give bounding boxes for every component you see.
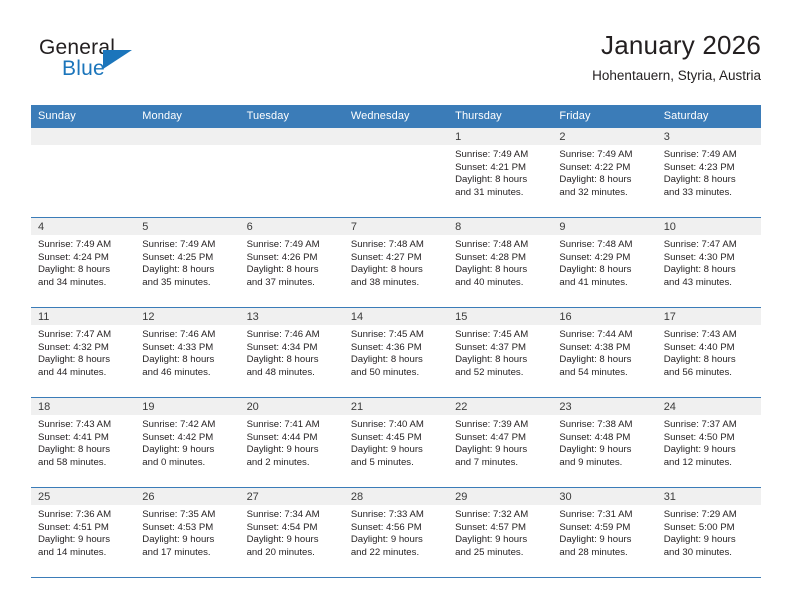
sunrise-time: Sunrise: 7:48 AM xyxy=(455,239,546,252)
daylight-line-2: and 32 minutes. xyxy=(559,187,650,200)
sunrise-time: Sunrise: 7:49 AM xyxy=(455,149,546,162)
weekday-header-sunday: Sunday xyxy=(31,105,135,128)
calendar-day-cell-empty xyxy=(344,128,448,218)
sunrise-time: Sunrise: 7:40 AM xyxy=(351,419,442,432)
daylight-line-1: Daylight: 8 hours xyxy=(664,264,755,277)
daylight-line-2: and 43 minutes. xyxy=(664,277,755,290)
daylight-line-1: Daylight: 9 hours xyxy=(559,444,650,457)
calendar-day-cell[interactable]: 28Sunrise: 7:33 AMSunset: 4:56 PMDayligh… xyxy=(344,488,448,578)
daylight-line-2: and 28 minutes. xyxy=(559,547,650,560)
day-details: Sunrise: 7:46 AMSunset: 4:33 PMDaylight:… xyxy=(135,325,239,379)
daylight-line-2: and 12 minutes. xyxy=(664,457,755,470)
calendar-day-cell[interactable]: 29Sunrise: 7:32 AMSunset: 4:57 PMDayligh… xyxy=(448,488,552,578)
day-number: 18 xyxy=(31,398,135,415)
daylight-line-1: Daylight: 9 hours xyxy=(247,534,338,547)
day-number xyxy=(344,128,448,145)
daylight-line-1: Daylight: 8 hours xyxy=(142,264,233,277)
sunset-time: Sunset: 5:00 PM xyxy=(664,522,755,535)
sunrise-time: Sunrise: 7:45 AM xyxy=(455,329,546,342)
calendar-day-cell[interactable]: 19Sunrise: 7:42 AMSunset: 4:42 PMDayligh… xyxy=(135,398,239,488)
daylight-line-1: Daylight: 9 hours xyxy=(247,444,338,457)
daylight-line-1: Daylight: 8 hours xyxy=(664,174,755,187)
sunrise-time: Sunrise: 7:48 AM xyxy=(559,239,650,252)
sunset-time: Sunset: 4:24 PM xyxy=(38,252,129,265)
sunrise-time: Sunrise: 7:43 AM xyxy=(664,329,755,342)
calendar-day-cell[interactable]: 15Sunrise: 7:45 AMSunset: 4:37 PMDayligh… xyxy=(448,308,552,398)
daylight-line-2: and 52 minutes. xyxy=(455,367,546,380)
daylight-line-2: and 0 minutes. xyxy=(142,457,233,470)
day-details: Sunrise: 7:49 AMSunset: 4:23 PMDaylight:… xyxy=(657,145,761,199)
day-details: Sunrise: 7:49 AMSunset: 4:25 PMDaylight:… xyxy=(135,235,239,289)
sunset-time: Sunset: 4:56 PM xyxy=(351,522,442,535)
sunrise-time: Sunrise: 7:48 AM xyxy=(351,239,442,252)
day-number: 10 xyxy=(657,218,761,235)
day-number: 11 xyxy=(31,308,135,325)
day-number: 23 xyxy=(552,398,656,415)
day-details xyxy=(31,145,135,149)
day-details: Sunrise: 7:46 AMSunset: 4:34 PMDaylight:… xyxy=(240,325,344,379)
day-details xyxy=(135,145,239,149)
calendar-day-cell[interactable]: 6Sunrise: 7:49 AMSunset: 4:26 PMDaylight… xyxy=(240,218,344,308)
daylight-line-2: and 44 minutes. xyxy=(38,367,129,380)
sunset-time: Sunset: 4:30 PM xyxy=(664,252,755,265)
sunrise-time: Sunrise: 7:33 AM xyxy=(351,509,442,522)
day-details: Sunrise: 7:40 AMSunset: 4:45 PMDaylight:… xyxy=(344,415,448,469)
day-details xyxy=(344,145,448,149)
day-number xyxy=(31,128,135,145)
day-details: Sunrise: 7:33 AMSunset: 4:56 PMDaylight:… xyxy=(344,505,448,559)
daylight-line-2: and 25 minutes. xyxy=(455,547,546,560)
daylight-line-2: and 30 minutes. xyxy=(664,547,755,560)
daylight-line-2: and 37 minutes. xyxy=(247,277,338,290)
sunset-time: Sunset: 4:33 PM xyxy=(142,342,233,355)
day-number: 6 xyxy=(240,218,344,235)
sunset-time: Sunset: 4:37 PM xyxy=(455,342,546,355)
daylight-line-1: Daylight: 8 hours xyxy=(247,264,338,277)
calendar-page: General Blue January 2026 Hohentauern, S… xyxy=(0,0,792,612)
calendar-day-cell[interactable]: 20Sunrise: 7:41 AMSunset: 4:44 PMDayligh… xyxy=(240,398,344,488)
sunset-time: Sunset: 4:45 PM xyxy=(351,432,442,445)
calendar-day-cell-empty xyxy=(240,128,344,218)
day-number: 7 xyxy=(344,218,448,235)
daylight-line-1: Daylight: 9 hours xyxy=(559,534,650,547)
daylight-line-2: and 35 minutes. xyxy=(142,277,233,290)
sunset-time: Sunset: 4:51 PM xyxy=(38,522,129,535)
day-number: 31 xyxy=(657,488,761,505)
calendar-day-cell[interactable]: 10Sunrise: 7:47 AMSunset: 4:30 PMDayligh… xyxy=(657,218,761,308)
sunrise-time: Sunrise: 7:46 AM xyxy=(247,329,338,342)
sunrise-time: Sunrise: 7:34 AM xyxy=(247,509,338,522)
triangle-logo-icon xyxy=(103,50,132,69)
day-number: 1 xyxy=(448,128,552,145)
sunset-time: Sunset: 4:22 PM xyxy=(559,162,650,175)
day-number: 8 xyxy=(448,218,552,235)
day-number: 22 xyxy=(448,398,552,415)
daylight-line-1: Daylight: 8 hours xyxy=(559,264,650,277)
daylight-line-1: Daylight: 8 hours xyxy=(455,174,546,187)
sunset-time: Sunset: 4:38 PM xyxy=(559,342,650,355)
calendar-day-cell[interactable]: 8Sunrise: 7:48 AMSunset: 4:28 PMDaylight… xyxy=(448,218,552,308)
calendar-day-cell[interactable]: 22Sunrise: 7:39 AMSunset: 4:47 PMDayligh… xyxy=(448,398,552,488)
calendar-day-cell[interactable]: 2Sunrise: 7:49 AMSunset: 4:22 PMDaylight… xyxy=(552,128,656,218)
sunrise-time: Sunrise: 7:47 AM xyxy=(664,239,755,252)
weekday-header-row: Sunday Monday Tuesday Wednesday Thursday… xyxy=(31,105,761,128)
day-details: Sunrise: 7:34 AMSunset: 4:54 PMDaylight:… xyxy=(240,505,344,559)
daylight-line-2: and 31 minutes. xyxy=(455,187,546,200)
calendar-day-cell[interactable]: 9Sunrise: 7:48 AMSunset: 4:29 PMDaylight… xyxy=(552,218,656,308)
sunset-time: Sunset: 4:50 PM xyxy=(664,432,755,445)
calendar-day-cell[interactable]: 13Sunrise: 7:46 AMSunset: 4:34 PMDayligh… xyxy=(240,308,344,398)
daylight-line-2: and 5 minutes. xyxy=(351,457,442,470)
sunrise-time: Sunrise: 7:49 AM xyxy=(247,239,338,252)
weekday-header-saturday: Saturday xyxy=(657,105,761,128)
calendar-day-cell[interactable]: 26Sunrise: 7:35 AMSunset: 4:53 PMDayligh… xyxy=(135,488,239,578)
calendar-body: 1Sunrise: 7:49 AMSunset: 4:21 PMDaylight… xyxy=(31,128,761,578)
weekday-header-monday: Monday xyxy=(135,105,239,128)
calendar-day-cell[interactable]: 17Sunrise: 7:43 AMSunset: 4:40 PMDayligh… xyxy=(657,308,761,398)
sunset-time: Sunset: 4:41 PM xyxy=(38,432,129,445)
day-number: 25 xyxy=(31,488,135,505)
daylight-line-2: and 58 minutes. xyxy=(38,457,129,470)
sunset-time: Sunset: 4:29 PM xyxy=(559,252,650,265)
calendar-day-cell-empty xyxy=(31,128,135,218)
daylight-line-1: Daylight: 8 hours xyxy=(559,354,650,367)
daylight-line-1: Daylight: 8 hours xyxy=(38,444,129,457)
day-number: 15 xyxy=(448,308,552,325)
sunrise-time: Sunrise: 7:39 AM xyxy=(455,419,546,432)
sunset-time: Sunset: 4:44 PM xyxy=(247,432,338,445)
sunrise-time: Sunrise: 7:38 AM xyxy=(559,419,650,432)
sunrise-time: Sunrise: 7:32 AM xyxy=(455,509,546,522)
day-number: 13 xyxy=(240,308,344,325)
day-number: 14 xyxy=(344,308,448,325)
calendar-day-cell[interactable]: 18Sunrise: 7:43 AMSunset: 4:41 PMDayligh… xyxy=(31,398,135,488)
day-details: Sunrise: 7:39 AMSunset: 4:47 PMDaylight:… xyxy=(448,415,552,469)
page-title: January 2026 xyxy=(592,28,761,62)
sunrise-time: Sunrise: 7:46 AM xyxy=(142,329,233,342)
daylight-line-2: and 50 minutes. xyxy=(351,367,442,380)
daylight-line-2: and 34 minutes. xyxy=(38,277,129,290)
day-number: 9 xyxy=(552,218,656,235)
daylight-line-1: Daylight: 8 hours xyxy=(559,174,650,187)
daylight-line-2: and 56 minutes. xyxy=(664,367,755,380)
daylight-line-1: Daylight: 8 hours xyxy=(455,354,546,367)
sunset-time: Sunset: 4:28 PM xyxy=(455,252,546,265)
sunrise-time: Sunrise: 7:31 AM xyxy=(559,509,650,522)
daylight-line-1: Daylight: 8 hours xyxy=(142,354,233,367)
sunset-time: Sunset: 4:47 PM xyxy=(455,432,546,445)
daylight-line-1: Daylight: 9 hours xyxy=(455,444,546,457)
page-header: General Blue January 2026 Hohentauern, S… xyxy=(31,28,761,100)
day-number: 12 xyxy=(135,308,239,325)
sunset-time: Sunset: 4:21 PM xyxy=(455,162,546,175)
calendar-week-row: 1Sunrise: 7:49 AMSunset: 4:21 PMDaylight… xyxy=(31,128,761,218)
sunset-time: Sunset: 4:59 PM xyxy=(559,522,650,535)
sunset-time: Sunset: 4:26 PM xyxy=(247,252,338,265)
day-details: Sunrise: 7:47 AMSunset: 4:30 PMDaylight:… xyxy=(657,235,761,289)
sunset-time: Sunset: 4:27 PM xyxy=(351,252,442,265)
sunset-time: Sunset: 4:57 PM xyxy=(455,522,546,535)
sunrise-time: Sunrise: 7:36 AM xyxy=(38,509,129,522)
calendar-grid: Sunday Monday Tuesday Wednesday Thursday… xyxy=(31,105,761,578)
brand-name-blue: Blue xyxy=(62,57,105,81)
daylight-line-1: Daylight: 9 hours xyxy=(38,534,129,547)
day-details: Sunrise: 7:49 AMSunset: 4:24 PMDaylight:… xyxy=(31,235,135,289)
calendar-day-cell[interactable]: 16Sunrise: 7:44 AMSunset: 4:38 PMDayligh… xyxy=(552,308,656,398)
weekday-header-wednesday: Wednesday xyxy=(344,105,448,128)
daylight-line-1: Daylight: 8 hours xyxy=(38,264,129,277)
day-number xyxy=(135,128,239,145)
daylight-line-2: and 41 minutes. xyxy=(559,277,650,290)
daylight-line-2: and 38 minutes. xyxy=(351,277,442,290)
calendar-day-cell[interactable]: 27Sunrise: 7:34 AMSunset: 4:54 PMDayligh… xyxy=(240,488,344,578)
daylight-line-2: and 48 minutes. xyxy=(247,367,338,380)
day-number: 26 xyxy=(135,488,239,505)
day-number: 19 xyxy=(135,398,239,415)
sunset-time: Sunset: 4:23 PM xyxy=(664,162,755,175)
weekday-header-thursday: Thursday xyxy=(448,105,552,128)
calendar-week-row: 18Sunrise: 7:43 AMSunset: 4:41 PMDayligh… xyxy=(31,398,761,488)
daylight-line-1: Daylight: 8 hours xyxy=(351,354,442,367)
daylight-line-2: and 2 minutes. xyxy=(247,457,338,470)
day-details: Sunrise: 7:49 AMSunset: 4:22 PMDaylight:… xyxy=(552,145,656,199)
calendar-day-cell[interactable]: 7Sunrise: 7:48 AMSunset: 4:27 PMDaylight… xyxy=(344,218,448,308)
daylight-line-1: Daylight: 9 hours xyxy=(142,444,233,457)
sunrise-time: Sunrise: 7:47 AM xyxy=(38,329,129,342)
day-details: Sunrise: 7:48 AMSunset: 4:27 PMDaylight:… xyxy=(344,235,448,289)
daylight-line-1: Daylight: 8 hours xyxy=(351,264,442,277)
day-details: Sunrise: 7:36 AMSunset: 4:51 PMDaylight:… xyxy=(31,505,135,559)
daylight-line-1: Daylight: 8 hours xyxy=(38,354,129,367)
daylight-line-2: and 17 minutes. xyxy=(142,547,233,560)
daylight-line-2: and 22 minutes. xyxy=(351,547,442,560)
daylight-line-2: and 7 minutes. xyxy=(455,457,546,470)
day-details: Sunrise: 7:32 AMSunset: 4:57 PMDaylight:… xyxy=(448,505,552,559)
sunrise-time: Sunrise: 7:37 AM xyxy=(664,419,755,432)
day-details: Sunrise: 7:44 AMSunset: 4:38 PMDaylight:… xyxy=(552,325,656,379)
day-number: 30 xyxy=(552,488,656,505)
sunset-time: Sunset: 4:34 PM xyxy=(247,342,338,355)
sunrise-time: Sunrise: 7:44 AM xyxy=(559,329,650,342)
daylight-line-2: and 33 minutes. xyxy=(664,187,755,200)
calendar-day-cell-empty xyxy=(135,128,239,218)
title-block: January 2026 Hohentauern, Styria, Austri… xyxy=(592,28,761,86)
daylight-line-2: and 46 minutes. xyxy=(142,367,233,380)
sunset-time: Sunset: 4:42 PM xyxy=(142,432,233,445)
day-details: Sunrise: 7:48 AMSunset: 4:29 PMDaylight:… xyxy=(552,235,656,289)
day-details: Sunrise: 7:38 AMSunset: 4:48 PMDaylight:… xyxy=(552,415,656,469)
daylight-line-1: Daylight: 9 hours xyxy=(664,444,755,457)
day-number: 3 xyxy=(657,128,761,145)
sunrise-time: Sunrise: 7:42 AM xyxy=(142,419,233,432)
sunset-time: Sunset: 4:32 PM xyxy=(38,342,129,355)
sunset-time: Sunset: 4:25 PM xyxy=(142,252,233,265)
day-details xyxy=(240,145,344,149)
weekday-header-friday: Friday xyxy=(552,105,656,128)
day-number: 20 xyxy=(240,398,344,415)
daylight-line-1: Daylight: 8 hours xyxy=(455,264,546,277)
weekday-header-tuesday: Tuesday xyxy=(240,105,344,128)
calendar-week-row: 11Sunrise: 7:47 AMSunset: 4:32 PMDayligh… xyxy=(31,308,761,398)
sunrise-time: Sunrise: 7:45 AM xyxy=(351,329,442,342)
calendar-day-cell[interactable]: 14Sunrise: 7:45 AMSunset: 4:36 PMDayligh… xyxy=(344,308,448,398)
calendar-day-cell[interactable]: 12Sunrise: 7:46 AMSunset: 4:33 PMDayligh… xyxy=(135,308,239,398)
location-subtitle: Hohentauern, Styria, Austria xyxy=(592,66,761,86)
daylight-line-2: and 9 minutes. xyxy=(559,457,650,470)
day-details: Sunrise: 7:35 AMSunset: 4:53 PMDaylight:… xyxy=(135,505,239,559)
day-details: Sunrise: 7:45 AMSunset: 4:36 PMDaylight:… xyxy=(344,325,448,379)
daylight-line-1: Daylight: 9 hours xyxy=(455,534,546,547)
calendar-day-cell[interactable]: 30Sunrise: 7:31 AMSunset: 4:59 PMDayligh… xyxy=(552,488,656,578)
day-details: Sunrise: 7:47 AMSunset: 4:32 PMDaylight:… xyxy=(31,325,135,379)
day-number: 4 xyxy=(31,218,135,235)
day-number: 27 xyxy=(240,488,344,505)
sunrise-time: Sunrise: 7:41 AM xyxy=(247,419,338,432)
day-details: Sunrise: 7:43 AMSunset: 4:41 PMDaylight:… xyxy=(31,415,135,469)
day-number: 2 xyxy=(552,128,656,145)
calendar-day-cell[interactable]: 11Sunrise: 7:47 AMSunset: 4:32 PMDayligh… xyxy=(31,308,135,398)
day-number: 29 xyxy=(448,488,552,505)
day-details: Sunrise: 7:48 AMSunset: 4:28 PMDaylight:… xyxy=(448,235,552,289)
sunrise-time: Sunrise: 7:35 AM xyxy=(142,509,233,522)
sunrise-time: Sunrise: 7:49 AM xyxy=(142,239,233,252)
daylight-line-2: and 20 minutes. xyxy=(247,547,338,560)
daylight-line-1: Daylight: 9 hours xyxy=(351,534,442,547)
sunrise-time: Sunrise: 7:49 AM xyxy=(664,149,755,162)
sunrise-time: Sunrise: 7:49 AM xyxy=(38,239,129,252)
sunset-time: Sunset: 4:36 PM xyxy=(351,342,442,355)
day-details: Sunrise: 7:49 AMSunset: 4:26 PMDaylight:… xyxy=(240,235,344,289)
daylight-line-1: Daylight: 9 hours xyxy=(664,534,755,547)
daylight-line-1: Daylight: 8 hours xyxy=(664,354,755,367)
day-details: Sunrise: 7:43 AMSunset: 4:40 PMDaylight:… xyxy=(657,325,761,379)
calendar-day-cell[interactable]: 24Sunrise: 7:37 AMSunset: 4:50 PMDayligh… xyxy=(657,398,761,488)
day-number: 21 xyxy=(344,398,448,415)
day-details: Sunrise: 7:41 AMSunset: 4:44 PMDaylight:… xyxy=(240,415,344,469)
day-details: Sunrise: 7:31 AMSunset: 4:59 PMDaylight:… xyxy=(552,505,656,559)
day-number: 28 xyxy=(344,488,448,505)
calendar-day-cell[interactable]: 5Sunrise: 7:49 AMSunset: 4:25 PMDaylight… xyxy=(135,218,239,308)
day-details: Sunrise: 7:45 AMSunset: 4:37 PMDaylight:… xyxy=(448,325,552,379)
day-details: Sunrise: 7:42 AMSunset: 4:42 PMDaylight:… xyxy=(135,415,239,469)
sunset-time: Sunset: 4:40 PM xyxy=(664,342,755,355)
daylight-line-2: and 40 minutes. xyxy=(455,277,546,290)
calendar-day-cell[interactable]: 1Sunrise: 7:49 AMSunset: 4:21 PMDaylight… xyxy=(448,128,552,218)
calendar-week-row: 25Sunrise: 7:36 AMSunset: 4:51 PMDayligh… xyxy=(31,488,761,578)
calendar-day-cell[interactable]: 23Sunrise: 7:38 AMSunset: 4:48 PMDayligh… xyxy=(552,398,656,488)
day-details: Sunrise: 7:37 AMSunset: 4:50 PMDaylight:… xyxy=(657,415,761,469)
day-number: 17 xyxy=(657,308,761,325)
calendar-week-row: 4Sunrise: 7:49 AMSunset: 4:24 PMDaylight… xyxy=(31,218,761,308)
calendar-day-cell[interactable]: 3Sunrise: 7:49 AMSunset: 4:23 PMDaylight… xyxy=(657,128,761,218)
daylight-line-2: and 54 minutes. xyxy=(559,367,650,380)
sunrise-time: Sunrise: 7:43 AM xyxy=(38,419,129,432)
day-details: Sunrise: 7:29 AMSunset: 5:00 PMDaylight:… xyxy=(657,505,761,559)
brand-logo[interactable]: General Blue xyxy=(31,36,231,92)
calendar-day-cell[interactable]: 21Sunrise: 7:40 AMSunset: 4:45 PMDayligh… xyxy=(344,398,448,488)
sunrise-time: Sunrise: 7:29 AM xyxy=(664,509,755,522)
daylight-line-1: Daylight: 9 hours xyxy=(142,534,233,547)
day-number: 5 xyxy=(135,218,239,235)
calendar-day-cell[interactable]: 4Sunrise: 7:49 AMSunset: 4:24 PMDaylight… xyxy=(31,218,135,308)
daylight-line-1: Daylight: 8 hours xyxy=(247,354,338,367)
day-number: 24 xyxy=(657,398,761,415)
daylight-line-2: and 14 minutes. xyxy=(38,547,129,560)
day-details: Sunrise: 7:49 AMSunset: 4:21 PMDaylight:… xyxy=(448,145,552,199)
sunset-time: Sunset: 4:53 PM xyxy=(142,522,233,535)
daylight-line-1: Daylight: 9 hours xyxy=(351,444,442,457)
sunset-time: Sunset: 4:54 PM xyxy=(247,522,338,535)
sunset-time: Sunset: 4:48 PM xyxy=(559,432,650,445)
sunrise-time: Sunrise: 7:49 AM xyxy=(559,149,650,162)
calendar-day-cell[interactable]: 31Sunrise: 7:29 AMSunset: 5:00 PMDayligh… xyxy=(657,488,761,578)
day-number: 16 xyxy=(552,308,656,325)
day-number xyxy=(240,128,344,145)
calendar-day-cell[interactable]: 25Sunrise: 7:36 AMSunset: 4:51 PMDayligh… xyxy=(31,488,135,578)
